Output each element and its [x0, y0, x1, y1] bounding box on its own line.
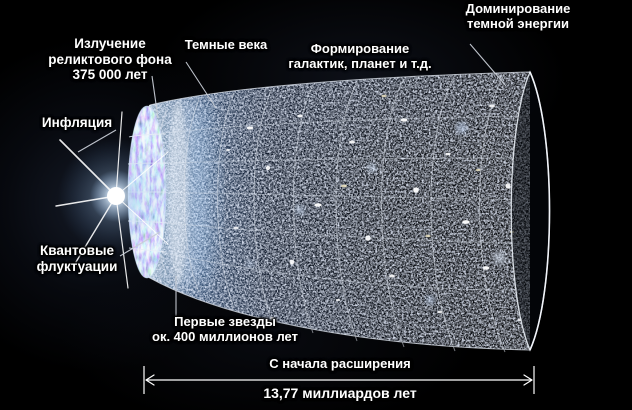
label-quantum-fluctuations: Квантовые флуктуации	[12, 243, 142, 274]
label-dark-energy-dominance: Доминирование темной энергии	[432, 2, 604, 32]
label-cmb-radiation: Излучение реликтового фона 375 000 лет	[30, 36, 190, 83]
label-galaxy-formation: Формирование галактик, планет и т.д.	[276, 42, 444, 72]
label-first-stars: Первые звезды ок. 400 миллионов лет	[130, 315, 320, 345]
cone-body	[136, 70, 550, 355]
starfield	[150, 70, 540, 355]
label-dark-ages: Темные века	[172, 38, 280, 53]
label-inflation: Инфляция	[22, 115, 132, 131]
label-universe-age: 13,77 миллиардов лет	[200, 385, 480, 401]
label-since-expansion: С начала расширения	[200, 357, 480, 372]
universe-timeline-figure: Излучение реликтового фона 375 000 лет И…	[0, 0, 632, 410]
